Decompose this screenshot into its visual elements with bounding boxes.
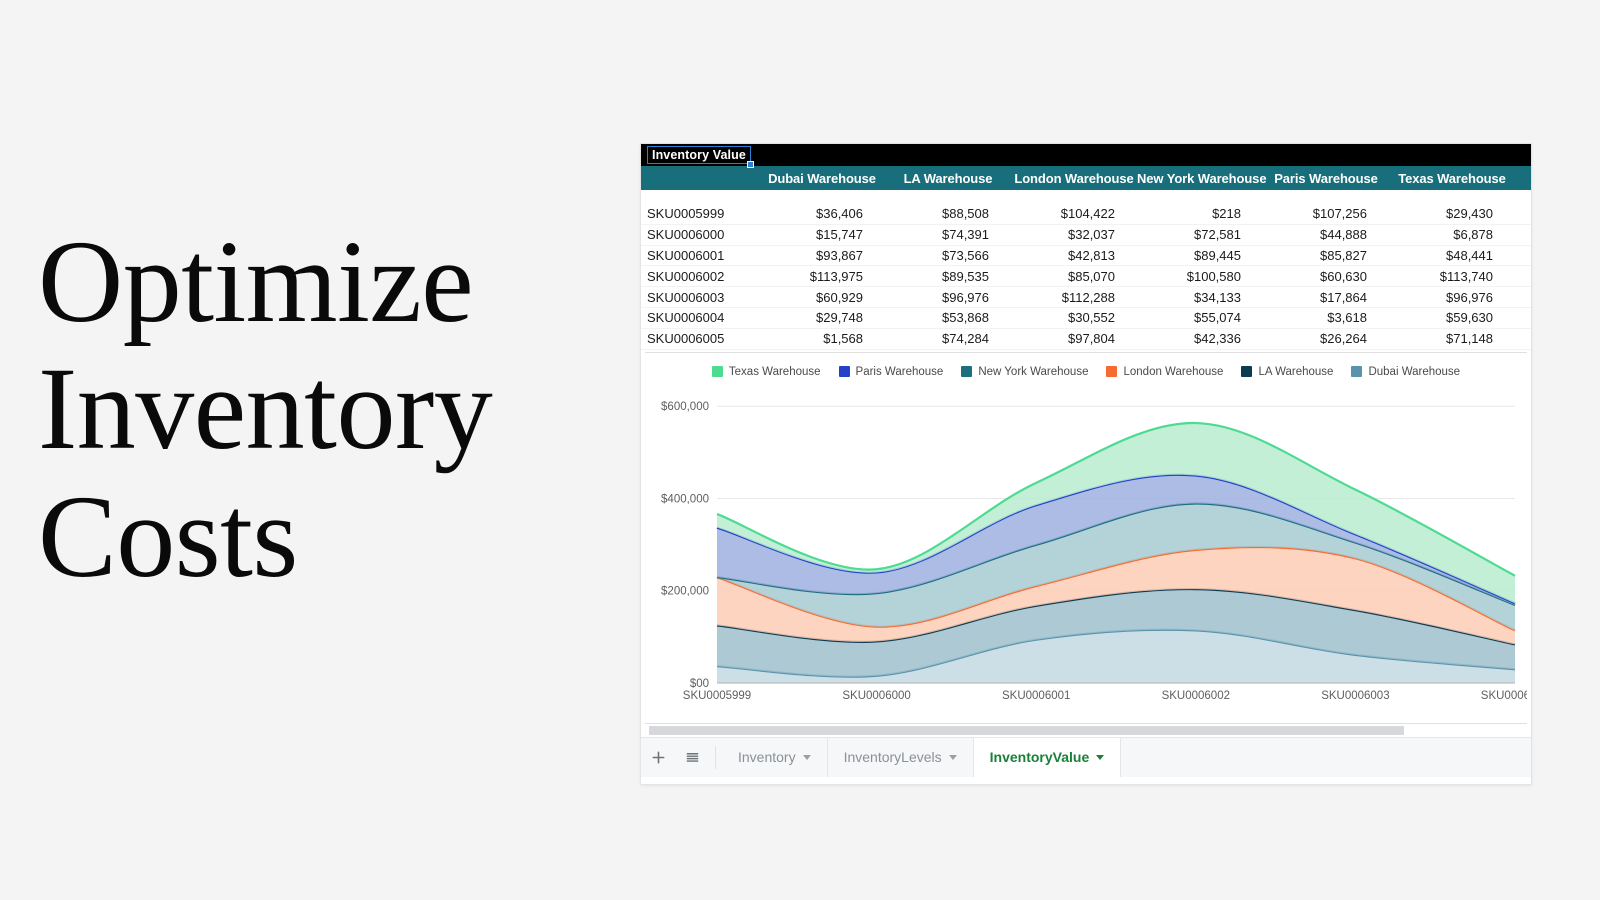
cell-newyork[interactable]: $55,074 — [1137, 310, 1263, 325]
legend-item[interactable]: Paris Warehouse — [839, 366, 944, 378]
tab-label: InventoryLevels — [844, 749, 942, 765]
legend-swatch-icon — [1106, 366, 1117, 377]
cell-texas[interactable]: $96,976 — [1389, 290, 1515, 305]
tabbar-divider — [715, 746, 716, 769]
page-title: Optimize Inventory Costs — [38, 218, 618, 600]
cell-paris[interactable]: $107,256 — [1263, 206, 1389, 221]
cell-london[interactable]: $104,422 — [1011, 206, 1137, 221]
y-axis-tick-label: $200,000 — [661, 585, 709, 597]
cell-dubai[interactable]: $29,748 — [759, 310, 885, 325]
legend-swatch-icon — [961, 366, 972, 377]
cell-london[interactable]: $42,813 — [1011, 248, 1137, 263]
cell-newyork[interactable]: $100,580 — [1137, 269, 1263, 284]
table-row[interactable]: SKU0006005 $1,568 $74,284 $97,804 $42,33… — [641, 329, 1531, 350]
table-row[interactable]: SKU0006003 $60,929 $96,976 $112,288 $34,… — [641, 287, 1531, 308]
chevron-down-icon[interactable] — [949, 755, 957, 760]
cell-dubai[interactable]: $113,975 — [759, 269, 885, 284]
chart-plot-area[interactable]: $00$200,000$400,000$600,000SKU0005999SKU… — [645, 383, 1527, 713]
legend-item[interactable]: New York Warehouse — [961, 366, 1088, 378]
tab-label: Inventory — [738, 749, 796, 765]
x-axis-tick-label: SKU0006004 — [1481, 690, 1527, 702]
cell-la[interactable]: $73,566 — [885, 248, 1011, 263]
column-header-paris[interactable]: Paris Warehouse — [1263, 171, 1389, 186]
legend-label: LA Warehouse — [1258, 366, 1333, 378]
cell-london[interactable]: $97,804 — [1011, 331, 1137, 346]
cell-dubai[interactable]: $36,406 — [759, 206, 885, 221]
table-row[interactable]: SKU0005999 $36,406 $88,508 $104,422 $218… — [641, 204, 1531, 225]
table-body: SKU0005999 $36,406 $88,508 $104,422 $218… — [641, 204, 1531, 350]
cell-la[interactable]: $74,284 — [885, 331, 1011, 346]
cell-paris[interactable]: $60,630 — [1263, 269, 1389, 284]
all-sheets-button[interactable] — [675, 738, 709, 777]
column-header-london[interactable]: London Warehouse — [1011, 171, 1137, 186]
plus-icon — [651, 750, 666, 765]
title-line-2: Inventory — [38, 345, 618, 472]
cell-paris[interactable]: $3,618 — [1263, 310, 1389, 325]
legend-label: Paris Warehouse — [856, 366, 944, 378]
cell-sku[interactable]: SKU0006004 — [641, 310, 759, 325]
legend-swatch-icon — [1351, 366, 1362, 377]
tab-inventoryvalue[interactable]: InventoryValue — [974, 738, 1122, 777]
legend-item[interactable]: LA Warehouse — [1241, 366, 1333, 378]
cell-sku[interactable]: SKU0006002 — [641, 269, 759, 284]
tab-label: InventoryValue — [990, 749, 1090, 765]
cell-london[interactable]: $30,552 — [1011, 310, 1137, 325]
cell-paris[interactable]: $85,827 — [1263, 248, 1389, 263]
cell-texas[interactable]: $29,430 — [1389, 206, 1515, 221]
legend-label: New York Warehouse — [978, 366, 1088, 378]
cell-la[interactable]: $96,976 — [885, 290, 1011, 305]
selected-cell[interactable]: Inventory Value — [647, 146, 751, 164]
tab-inventorylevels[interactable]: InventoryLevels — [828, 738, 974, 777]
area-chart[interactable]: Texas WarehouseParis WarehouseNew York W… — [645, 352, 1527, 724]
legend-item[interactable]: Texas Warehouse — [712, 366, 821, 378]
cell-paris[interactable]: $44,888 — [1263, 227, 1389, 242]
title-line-3: Costs — [38, 473, 618, 600]
cell-newyork[interactable]: $42,336 — [1137, 331, 1263, 346]
cell-paris[interactable]: $26,264 — [1263, 331, 1389, 346]
scrollbar-thumb[interactable] — [649, 726, 1404, 735]
cell-texas[interactable]: $6,878 — [1389, 227, 1515, 242]
cell-la[interactable]: $74,391 — [885, 227, 1011, 242]
column-header-texas[interactable]: Texas Warehouse — [1389, 171, 1515, 186]
legend-label: Texas Warehouse — [729, 366, 821, 378]
y-axis-tick-label: $00 — [690, 678, 709, 690]
cell-london[interactable]: $85,070 — [1011, 269, 1137, 284]
tab-inventory[interactable]: Inventory — [722, 738, 828, 777]
chart-legend: Texas WarehouseParis WarehouseNew York W… — [645, 353, 1527, 383]
cell-london[interactable]: $112,288 — [1011, 290, 1137, 305]
column-header-dubai[interactable]: Dubai Warehouse — [759, 171, 885, 186]
x-axis-tick-label: SKU0006000 — [842, 690, 910, 702]
cell-texas[interactable]: $71,148 — [1389, 331, 1515, 346]
legend-label: London Warehouse — [1123, 366, 1223, 378]
x-axis-tick-label: SKU0006003 — [1321, 690, 1389, 702]
legend-swatch-icon — [839, 366, 850, 377]
cell-london[interactable]: $32,037 — [1011, 227, 1137, 242]
title-line-1: Optimize — [38, 218, 618, 345]
table-row[interactable]: SKU0006002 $113,975 $89,535 $85,070 $100… — [641, 266, 1531, 287]
column-header-newyork[interactable]: New York Warehouse — [1137, 171, 1263, 186]
chevron-down-icon[interactable] — [803, 755, 811, 760]
legend-swatch-icon — [1241, 366, 1252, 377]
y-axis-tick-label: $600,000 — [661, 401, 709, 413]
x-axis-tick-label: SKU0006001 — [1002, 690, 1070, 702]
add-sheet-button[interactable] — [641, 738, 675, 777]
column-header-la[interactable]: LA Warehouse — [885, 171, 1011, 186]
table-row[interactable]: SKU0006004 $29,748 $53,868 $30,552 $55,0… — [641, 308, 1531, 329]
cell-texas[interactable]: $59,630 — [1389, 310, 1515, 325]
cell-sku[interactable]: SKU0006005 — [641, 331, 759, 346]
cell-dubai[interactable]: $93,867 — [759, 248, 885, 263]
cell-newyork[interactable]: $34,133 — [1137, 290, 1263, 305]
cell-paris[interactable]: $17,864 — [1263, 290, 1389, 305]
sheet-tabbar: Inventory InventoryLevels InventoryValue — [641, 737, 1531, 777]
cell-newyork[interactable]: $89,445 — [1137, 248, 1263, 263]
chart-canvas: $00$200,000$400,000$600,000SKU0005999SKU… — [645, 383, 1527, 713]
cell-sku[interactable]: SKU0006001 — [641, 248, 759, 263]
cell-texas[interactable]: $48,441 — [1389, 248, 1515, 263]
cell-la[interactable]: $88,508 — [885, 206, 1011, 221]
horizontal-scrollbar[interactable] — [641, 724, 1531, 737]
fill-handle[interactable] — [747, 161, 754, 168]
cell-newyork[interactable]: $218 — [1137, 206, 1263, 221]
table-row[interactable]: SKU0006000 $15,747 $74,391 $32,037 $72,5… — [641, 225, 1531, 246]
legend-label: Dubai Warehouse — [1368, 366, 1460, 378]
cell-newyork[interactable]: $72,581 — [1137, 227, 1263, 242]
legend-item[interactable]: London Warehouse — [1106, 366, 1223, 378]
cell-la[interactable]: $89,535 — [885, 269, 1011, 284]
cell-texas[interactable]: $113,740 — [1389, 269, 1515, 284]
cell-dubai[interactable]: $15,747 — [759, 227, 885, 242]
y-axis-tick-label: $400,000 — [661, 493, 709, 505]
slide-root: Optimize Inventory Costs Inventory Value… — [0, 0, 1600, 900]
legend-swatch-icon — [712, 366, 723, 377]
chevron-down-icon[interactable] — [1096, 755, 1104, 760]
cell-sku[interactable]: SKU0006000 — [641, 227, 759, 242]
table-header-row: Dubai Warehouse LA Warehouse London Ware… — [641, 166, 1531, 190]
x-axis-tick-label: SKU0006002 — [1162, 690, 1230, 702]
hamburger-menu-icon — [685, 750, 700, 765]
cell-sku[interactable]: SKU0005999 — [641, 206, 759, 221]
cell-sku[interactable]: SKU0006003 — [641, 290, 759, 305]
x-axis-tick-label: SKU0005999 — [683, 690, 751, 702]
table-row[interactable]: SKU0006001 $93,867 $73,566 $42,813 $89,4… — [641, 246, 1531, 267]
table-spacer-row — [641, 190, 1531, 204]
spreadsheet-topbar: Inventory Value — [641, 144, 1531, 166]
legend-item[interactable]: Dubai Warehouse — [1351, 366, 1460, 378]
cell-dubai[interactable]: $60,929 — [759, 290, 885, 305]
spreadsheet-panel: Inventory Value Dubai Warehouse LA Wareh… — [641, 144, 1531, 784]
cell-la[interactable]: $53,868 — [885, 310, 1011, 325]
cell-dubai[interactable]: $1,568 — [759, 331, 885, 346]
selected-cell-value: Inventory Value — [652, 148, 746, 162]
